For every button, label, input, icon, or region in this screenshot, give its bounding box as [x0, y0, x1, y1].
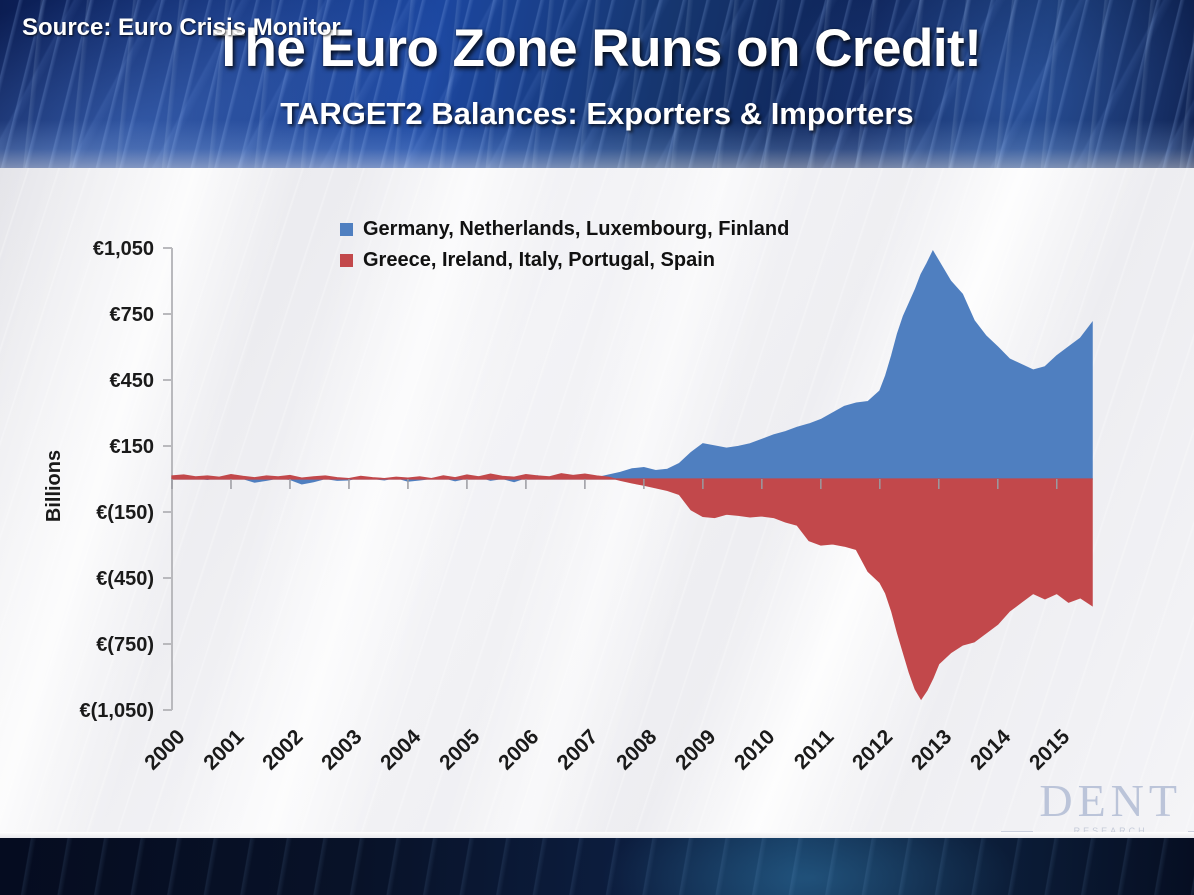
target2-balances-area-chart: €1,050€750€450€150€(150)€(450)€(750)€(1,…: [0, 168, 1194, 832]
x-axis-tick-label: 2010: [730, 725, 779, 774]
x-axis-tick-label: 2015: [1025, 725, 1075, 775]
x-axis-tick-label: 2001: [199, 725, 249, 775]
footer-streak-pattern: [0, 838, 1194, 895]
x-axis-tick-label: 2011: [790, 725, 839, 774]
series-area-blue-exporters: [172, 251, 1092, 484]
y-axis-tick-label: €(1,050): [80, 700, 155, 722]
y-axis-tick-label: €(750): [96, 634, 154, 656]
y-axis-tick-label: €450: [110, 370, 155, 392]
y-axis-tick-label: €150: [110, 436, 155, 458]
legend-label: Germany, Netherlands, Luxembourg, Finlan…: [363, 218, 789, 240]
series-area-red-importers: [172, 474, 1092, 699]
x-axis-tick-label: 2005: [435, 725, 485, 775]
x-axis-tick-label: 2014: [966, 725, 1016, 775]
x-axis-tick-label: 2012: [848, 725, 897, 774]
x-axis-tick-label: 2006: [494, 725, 543, 774]
footer-banner: [0, 838, 1194, 895]
y-axis-tick-label: €750: [110, 304, 155, 326]
legend-swatch: [340, 254, 353, 267]
x-axis-tick-label: 2002: [258, 725, 307, 774]
x-axis-tick-label: 2013: [907, 725, 956, 774]
y-axis-tick-label: €1,050: [93, 238, 154, 260]
x-axis-tick-label: 2004: [376, 725, 426, 775]
x-axis-tick-label: 2007: [553, 725, 602, 774]
x-axis-tick-label: 2008: [612, 725, 662, 775]
x-axis-tick-label: 2009: [671, 725, 720, 774]
chart-container: €1,050€750€450€150€(150)€(450)€(750)€(1,…: [0, 168, 1194, 832]
slide-subtitle: TARGET2 Balances: Exporters & Importers: [0, 96, 1194, 132]
legend-label: Greece, Ireland, Italy, Portugal, Spain: [363, 249, 715, 271]
x-axis-tick-label: 2003: [317, 725, 366, 774]
legend-swatch: [340, 223, 353, 236]
y-axis-title: Billions: [43, 450, 65, 522]
source-note: Source: Euro Crisis Monitor: [22, 14, 341, 42]
y-axis-tick-label: €(450): [96, 568, 154, 590]
y-axis-tick-label: €(150): [96, 502, 154, 524]
slide-root: The Euro Zone Runs on Credit! TARGET2 Ba…: [0, 0, 1194, 895]
x-axis-tick-label: 2000: [140, 725, 189, 774]
